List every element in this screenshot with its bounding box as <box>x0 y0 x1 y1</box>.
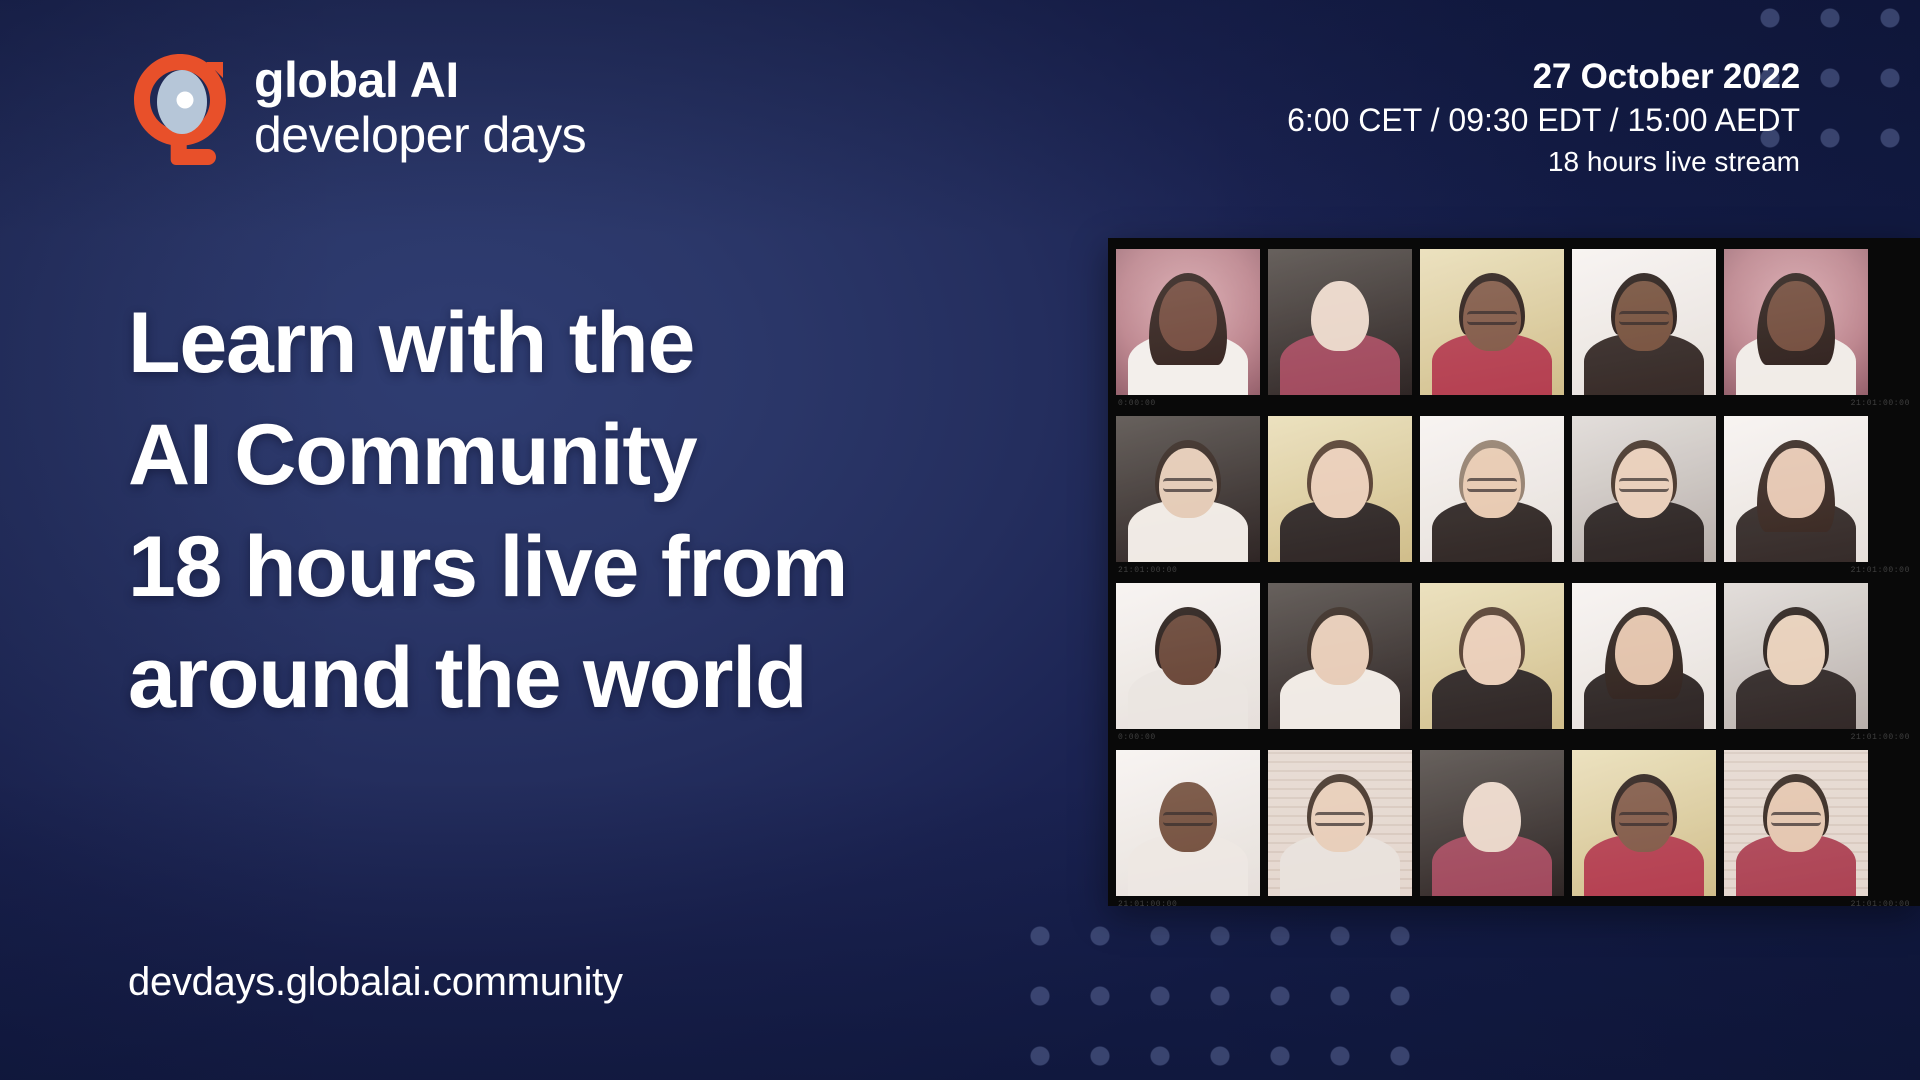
participant-video <box>1724 416 1868 562</box>
participant-video <box>1116 583 1260 729</box>
video-tile[interactable] <box>1724 249 1868 395</box>
video-tile[interactable] <box>1420 583 1564 729</box>
headline-line-4: around the world <box>128 623 847 735</box>
video-grid-row: 21:01:00:0021:01:00:00 <box>1108 750 1920 896</box>
participant-video <box>1572 750 1716 896</box>
video-tile[interactable] <box>1572 583 1716 729</box>
video-tile[interactable] <box>1420 249 1564 395</box>
video-tile[interactable] <box>1420 416 1564 562</box>
event-schedule: 27 October 2022 6:00 CET / 09:30 EDT / 1… <box>1287 56 1800 180</box>
video-tile[interactable] <box>1268 249 1412 395</box>
participant-video <box>1420 583 1564 729</box>
headline-line-3: 18 hours live from <box>128 512 847 624</box>
global-ai-eye-logo-icon <box>128 48 232 166</box>
video-timecode: 21:01:00:0021:01:00:00 <box>1118 900 1910 906</box>
participant-video <box>1724 750 1868 896</box>
event-date: 27 October 2022 <box>1287 56 1800 97</box>
video-timecode: 21:01:00:0021:01:00:00 <box>1118 566 1910 580</box>
video-tile[interactable] <box>1724 583 1868 729</box>
logo-text-developer-days: developer days <box>254 111 586 160</box>
video-tile[interactable] <box>1116 583 1260 729</box>
event-duration: 18 hours live stream <box>1287 145 1800 180</box>
video-grid-row: 0:00:0021:01:00:00 <box>1108 583 1920 729</box>
participant-video <box>1116 249 1260 395</box>
participant-video <box>1116 416 1260 562</box>
video-tile[interactable] <box>1116 249 1260 395</box>
page-title: Learn with the AI Community 18 hours liv… <box>128 288 847 735</box>
video-timecode: 0:00:0021:01:00:00 <box>1118 399 1910 413</box>
participant-video <box>1572 416 1716 562</box>
video-tile[interactable] <box>1268 583 1412 729</box>
participant-video <box>1420 249 1564 395</box>
video-tile[interactable] <box>1268 416 1412 562</box>
video-grid-row: 21:01:00:0021:01:00:00 <box>1108 416 1920 562</box>
video-tile[interactable] <box>1572 249 1716 395</box>
brand-logo[interactable]: global AI developer days <box>128 48 586 166</box>
participant-video <box>1268 750 1412 896</box>
video-grid-row: 0:00:0021:01:00:00 <box>1108 249 1920 395</box>
video-tile[interactable] <box>1116 416 1260 562</box>
video-tile[interactable] <box>1724 750 1868 896</box>
video-call-grid: 0:00:0021:01:00:0021:01:00:0021:01:00:00… <box>1108 238 1920 906</box>
video-tile[interactable] <box>1572 416 1716 562</box>
video-tile[interactable] <box>1724 416 1868 562</box>
participant-video <box>1420 416 1564 562</box>
participant-video <box>1268 583 1412 729</box>
participant-video <box>1268 416 1412 562</box>
participant-video <box>1420 750 1564 896</box>
video-timecode: 0:00:0021:01:00:00 <box>1118 733 1910 747</box>
event-website-url[interactable]: devdays.globalai.community <box>128 960 623 1005</box>
participant-video <box>1116 750 1260 896</box>
event-timezones: 6:00 CET / 09:30 EDT / 15:00 AEDT <box>1287 101 1800 141</box>
headline-line-2: AI Community <box>128 400 847 512</box>
video-tile[interactable] <box>1116 750 1260 896</box>
participant-video <box>1724 583 1868 729</box>
video-tile[interactable] <box>1268 750 1412 896</box>
promo-banner: global AI developer days 27 October 2022… <box>0 0 1920 1080</box>
participant-video <box>1268 249 1412 395</box>
participant-video <box>1572 249 1716 395</box>
video-tile[interactable] <box>1420 750 1564 896</box>
participant-video <box>1724 249 1868 395</box>
video-tile[interactable] <box>1572 750 1716 896</box>
participant-video <box>1572 583 1716 729</box>
headline-line-1: Learn with the <box>128 288 847 400</box>
logo-text-global-ai: global AI <box>254 56 586 105</box>
